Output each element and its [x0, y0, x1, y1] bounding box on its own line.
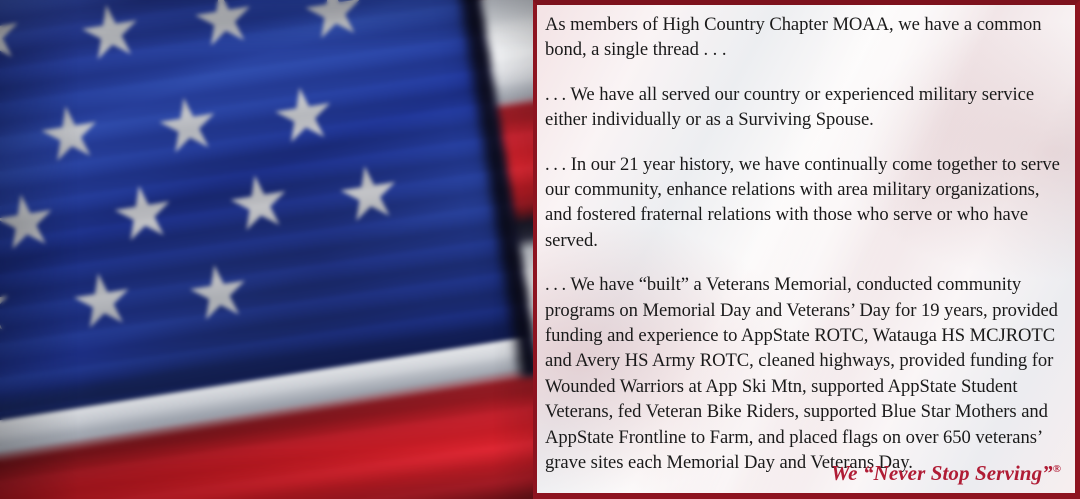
flag-star: [336, 162, 402, 228]
mission-statement-panel: As members of High Country Chapter MOAA,…: [533, 0, 1080, 499]
american-flag-image: [0, 0, 560, 499]
flag-star: [271, 83, 337, 149]
flag-star: [186, 260, 252, 326]
panel-content: As members of High Country Chapter MOAA,…: [537, 5, 1075, 476]
moaa-banner: As members of High Country Chapter MOAA,…: [0, 0, 1080, 499]
registered-trademark-icon: ®: [1053, 463, 1061, 475]
flag-star: [0, 3, 25, 69]
paragraph-accomplishments: . . . We have “built” a Veterans Memoria…: [545, 272, 1066, 475]
flag-star: [37, 102, 103, 168]
flag-star: [226, 171, 292, 237]
paragraph-common-bond: As members of High Country Chapter MOAA,…: [545, 12, 1066, 63]
flag-star: [301, 0, 367, 45]
tagline: We “Never Stop Serving”®: [831, 461, 1061, 486]
flag-star: [69, 269, 135, 335]
flag-star: [110, 181, 176, 247]
flag-star: [155, 93, 221, 159]
flag-star: [78, 0, 144, 66]
flag-star: [191, 0, 257, 53]
flag-star: [0, 190, 58, 256]
flag-star: [0, 276, 15, 342]
tagline-text: We “Never Stop Serving”: [831, 461, 1053, 485]
paragraph-served-country: . . . We have all served our country or …: [545, 82, 1066, 133]
paragraph-history: . . . In our 21 year history, we have co…: [545, 152, 1066, 254]
